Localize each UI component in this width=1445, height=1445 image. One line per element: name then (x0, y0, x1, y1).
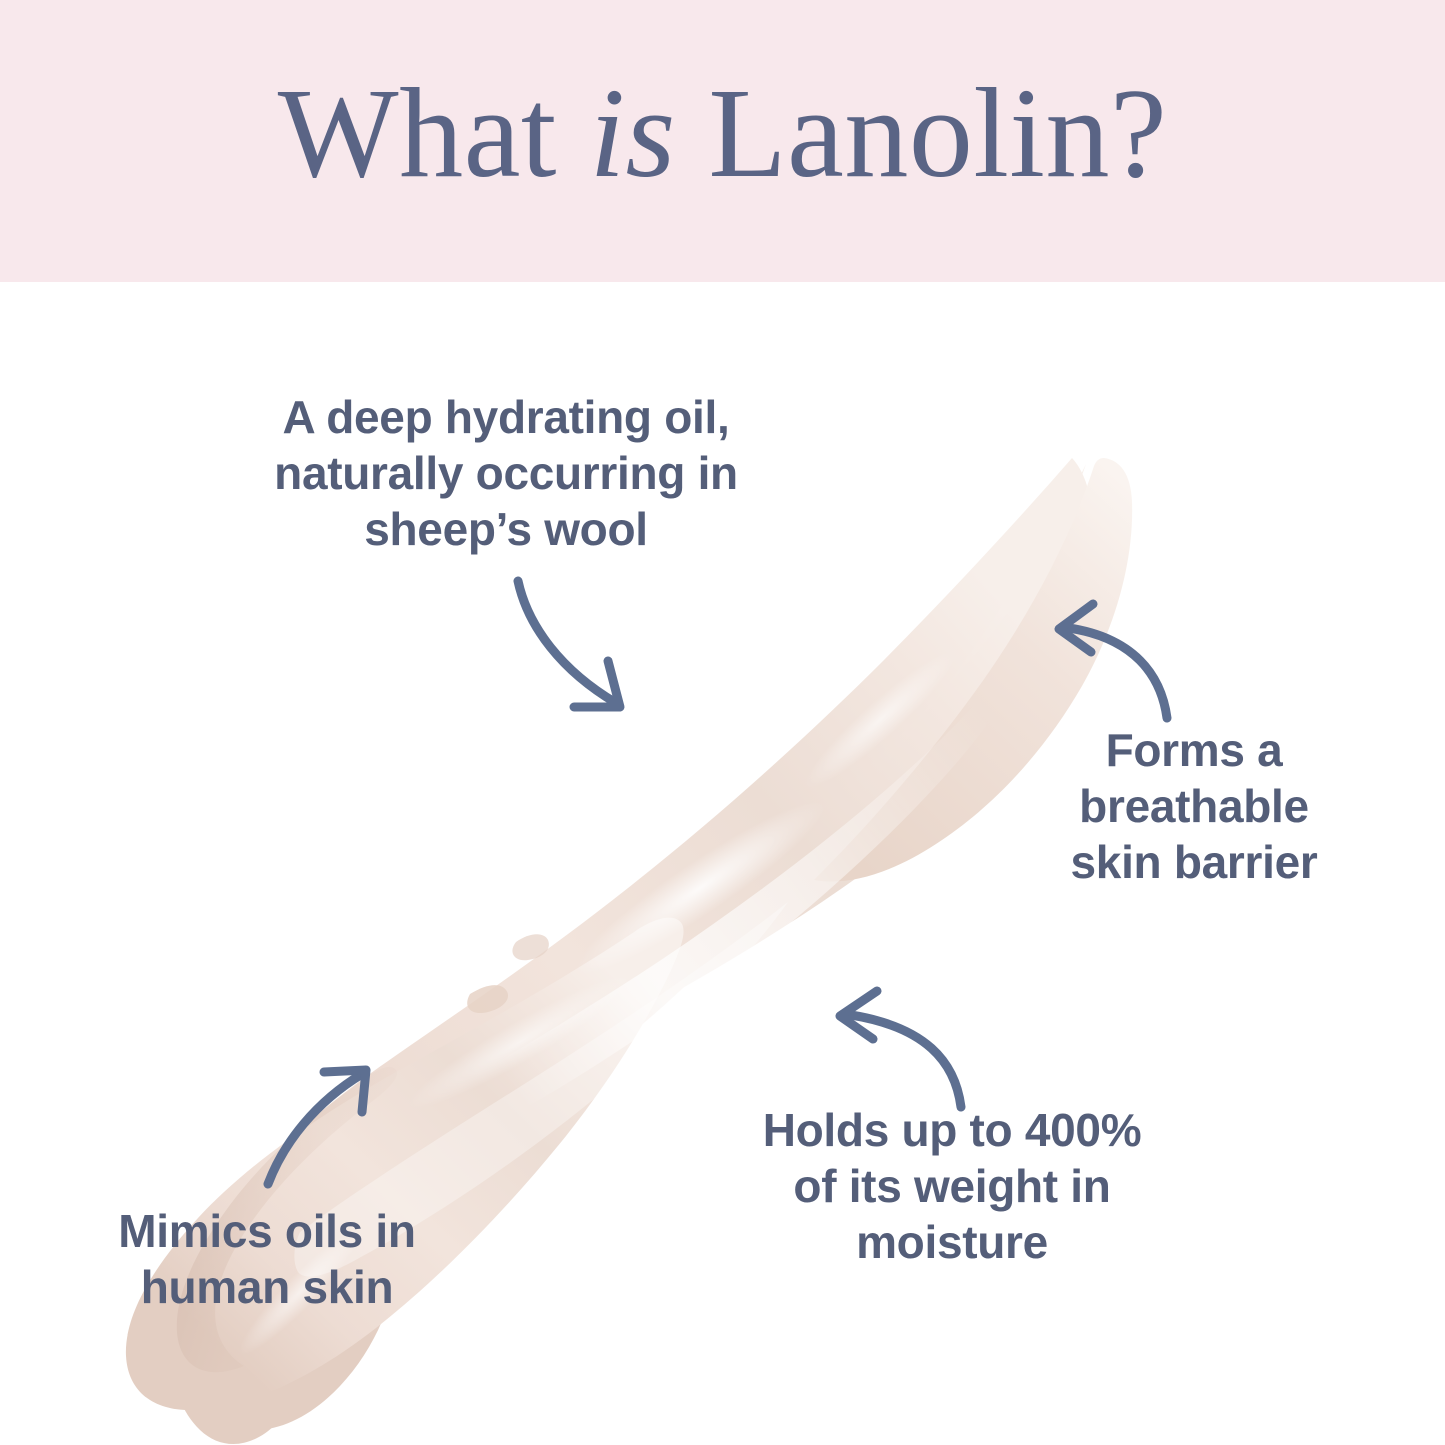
infographic-canvas: What is Lanolin? (0, 0, 1445, 1445)
arrow-up-left-icon-lower (815, 985, 990, 1120)
callout-mimics-oils: Mimics oils in human skin (72, 1203, 462, 1315)
callout-skin-barrier: Forms a breathable skin barrier (1022, 722, 1366, 890)
arrow-up-right-icon (248, 1046, 398, 1196)
page-title-part2: Lanolin? (676, 69, 1167, 197)
page-title: What is Lanolin? (0, 0, 1445, 282)
callout-moisture: Holds up to 400% of its weight in moistu… (702, 1102, 1202, 1270)
arrow-up-left-icon-right (1035, 596, 1190, 731)
page-title-part1: What (278, 69, 590, 197)
arrow-down-right-icon (470, 555, 660, 730)
page-title-emphasis: is (589, 69, 675, 197)
callout-hydrating-oil: A deep hydrating oil, naturally occurrin… (196, 389, 816, 557)
